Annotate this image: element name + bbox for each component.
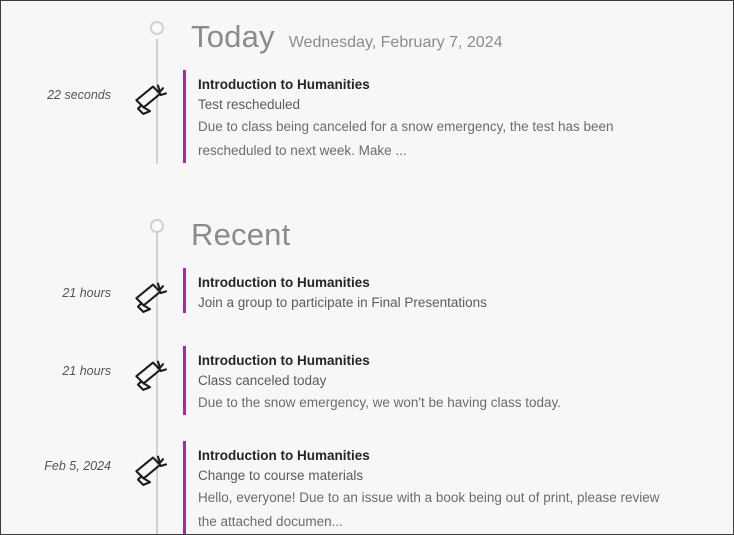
section-title-today: Today (191, 21, 275, 52)
notification-subject: Class canceled today (198, 371, 733, 391)
notification-course: Introduction to Humanities (198, 272, 733, 293)
notification-preview: Due to the snow emergency, we won't be h… (198, 391, 668, 415)
megaphone-icon (119, 346, 183, 398)
notification-item[interactable]: 21 hours Introduction to Humanities Clas… (1, 346, 733, 415)
notification-course: Introduction to Humanities (198, 74, 733, 95)
notification-timestamp: 21 hours (1, 346, 119, 378)
notification-subject: Change to course materials (198, 466, 733, 486)
notification-item[interactable]: 21 hours Introduction to Humanities Join… (1, 268, 733, 320)
notification-timestamp: 21 hours (1, 268, 119, 300)
notifications-stream-page: Today Wednesday, February 7, 2024 22 sec… (0, 0, 734, 535)
section-header-recent: Recent (1, 219, 733, 250)
notification-content: Introduction to Humanities Test reschedu… (183, 70, 733, 163)
notification-course: Introduction to Humanities (198, 445, 733, 466)
megaphone-icon (119, 441, 183, 493)
notification-subject: Join a group to participate in Final Pre… (198, 293, 733, 313)
notification-content: Introduction to Humanities Class cancele… (183, 346, 733, 415)
section-header-today: Today Wednesday, February 7, 2024 (1, 21, 733, 52)
section-date-today: Wednesday, February 7, 2024 (289, 35, 503, 51)
notification-timestamp: 22 seconds (1, 70, 119, 102)
timeline-dot-today (150, 21, 164, 35)
notification-course: Introduction to Humanities (198, 350, 733, 371)
notification-subject: Test rescheduled (198, 95, 733, 115)
notification-preview: Due to class being canceled for a snow e… (198, 115, 668, 163)
notification-item[interactable]: 22 seconds Introduction to Humanities Te… (1, 70, 733, 163)
timeline-dot-recent (150, 219, 164, 233)
notification-content: Introduction to Humanities Change to cou… (183, 441, 733, 534)
notifications-timeline: Today Wednesday, February 7, 2024 22 sec… (1, 1, 733, 534)
notification-content: Introduction to Humanities Join a group … (183, 268, 733, 313)
section-title-recent: Recent (191, 219, 290, 250)
notification-timestamp: Feb 5, 2024 (1, 441, 119, 473)
notification-preview: Hello, everyone! Due to an issue with a … (198, 486, 668, 534)
megaphone-icon (119, 268, 183, 320)
notification-item[interactable]: Feb 5, 2024 Introduction to Humanities C… (1, 441, 733, 534)
megaphone-icon (119, 70, 183, 122)
